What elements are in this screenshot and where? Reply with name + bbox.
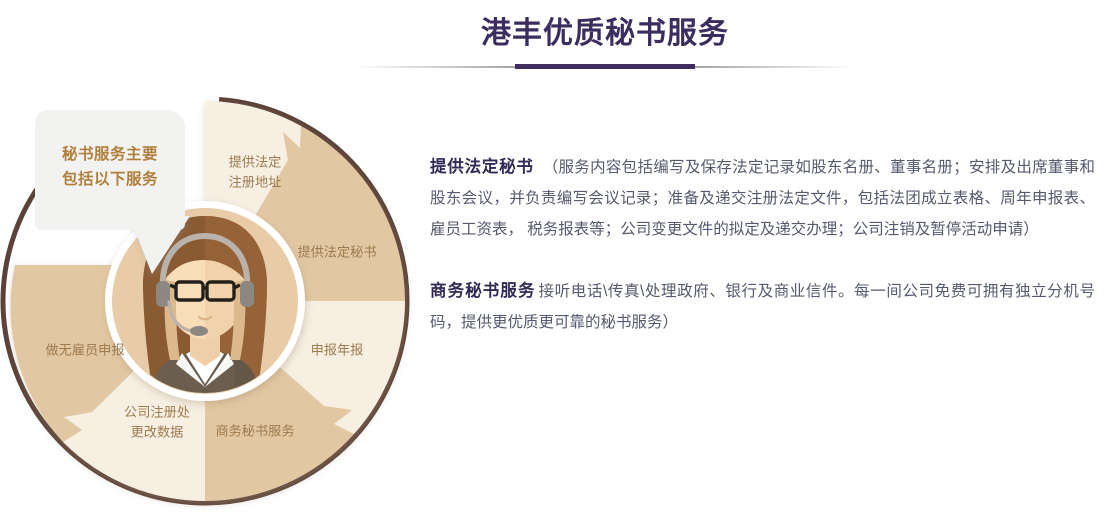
paragraph-statutory-secretary: 提供法定秘书（服务内容包括编写及保存法定记录如股东名册、董事名册；安排及出席董事… (430, 152, 1095, 245)
segment-label-business-secretary: 商务秘书服务 (215, 423, 294, 438)
speech-bubble: 秘书服务主要 包括以下服务 (35, 110, 185, 230)
segment-label-registry-changes-line1: 公司注册处 (124, 404, 190, 419)
segment-label-registered-address-line1: 提供法定 (229, 154, 282, 169)
speech-bubble-text: 秘书服务主要 包括以下服务 (35, 142, 185, 192)
segment-label-registry-changes-line2: 更改数据 (131, 424, 184, 439)
paragraph-1-lead: 提供法定秘书 (430, 158, 534, 176)
title-divider-accent (515, 64, 695, 69)
page-header: 港丰优质秘书服务 (0, 0, 1107, 85)
segment-label-annual-return: 申报年报 (311, 342, 364, 357)
content-text-column: 提供法定秘书（服务内容包括编写及保存法定记录如股东名册、董事名册；安排及出席董事… (430, 152, 1095, 338)
segment-label-registered-address-line2: 注册地址 (229, 174, 282, 189)
speech-bubble-line-2: 包括以下服务 (35, 167, 185, 192)
segment-label-nil-employer-return: 做无雇员申报 (45, 341, 124, 357)
paragraph-business-secretary: 商务秘书服务接听电话\传真\处理政府、银行及商业信件。每一间公司免费可拥有独立分… (430, 276, 1095, 338)
page-title: 港丰优质秘书服务 (355, 12, 855, 56)
paragraph-2-lead: 商务秘书服务 (430, 282, 536, 300)
speech-bubble-line-1: 秘书服务主要 (35, 142, 185, 167)
services-wheel-diagram: 提供法定 注册地址 提供法定秘书 申报年报 商务秘书服务 公司注册处 更改数据 … (0, 88, 420, 523)
segment-label-company-secretary: 提供法定秘书 (297, 244, 376, 259)
